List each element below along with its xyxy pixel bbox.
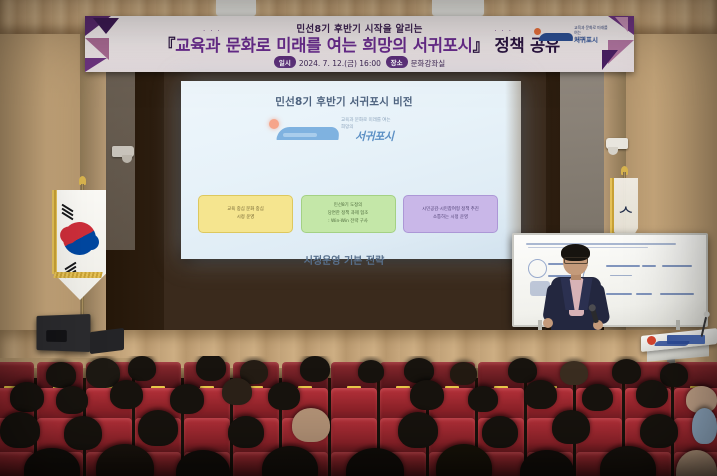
banner-bracket-close: 』 [473,36,489,55]
slide-logo-sub: 희망의 [341,125,353,130]
banner-date-pill: 일시 [274,56,296,68]
strategy-box-citizen: 시민공감·시민참여형 정책 추진 소통하는 시정 운영 [403,195,498,233]
banner-place-value: 문화강좌실 [411,59,446,68]
stage-monitor-speaker [90,328,124,354]
lectern-logo-swoosh [654,341,690,346]
audience-head [640,414,678,448]
whiteboard-writing [610,275,632,276]
audience-area [0,356,717,476]
glasses-icon [564,257,588,264]
banner-title-highlight: 교육과 문화로 미래를 여는 희망의 서귀포시 [175,36,472,55]
strategy-box-line: 민선8기 도정의 [334,202,362,210]
audience-head [560,361,588,385]
mountain-ridge-icon [283,133,317,137]
security-camera-icon [112,146,134,157]
whiteboard-writing [636,293,652,295]
strategy-box-line: 소통하는 시정 운영 [433,214,468,222]
banner-city-logo: 교육과 문화로 미래를 여는희망의 서귀포시 [532,23,610,43]
audience-head [482,416,518,448]
banner-logo-name: 서귀포시 [574,34,598,44]
ceiling-light [216,0,256,16]
audience-head [300,356,330,382]
audience-head [222,378,252,405]
sun-icon [269,119,279,129]
whiteboard-writing [642,265,656,267]
whiteboard [512,233,708,327]
mountain-icon [539,33,574,41]
audience-head [64,416,102,450]
whiteboard-writing [662,265,692,267]
audience-head [552,410,590,444]
audience-head [170,384,204,414]
banner-bracket-open: 『 [159,36,175,55]
stage-monitor-speaker [36,314,90,352]
audience-head [10,382,44,412]
projection-screen: 민선8기 후반기 서귀포시 비전 교육과 문화로 미래를 여는희망의 서귀포시 … [181,81,521,259]
audience-head [0,412,40,448]
audience-head [582,384,613,411]
ceiling-light [432,0,484,16]
banner-date-value: 2024. 7. 12.(금) 16:00 [299,59,381,68]
whiteboard-writing [606,265,640,267]
strategy-box-line: 당면한 정책 과제 협조 [328,210,369,218]
banner-place-pill: 장소 [386,56,408,68]
audience-head [268,382,300,410]
whiteboard-writing [606,293,632,295]
whiteboard-writing [660,293,694,295]
audience-head [128,356,156,381]
slide-strategy-boxes: 교육 중심 문화 중심 시정 운영 민선8기 도정의 당면한 정책 과제 협조 … [198,195,498,233]
audience-head [410,380,444,410]
audience-head [228,416,264,448]
slide-city-logo: 교육과 문화로 미래를 여는희망의 서귀포시 [269,117,409,143]
strategy-box-line: 시정 운영 [237,214,255,222]
strategy-box-line: : Win-Win 전략 구사 [328,218,368,226]
audience-head [398,412,438,448]
audience-head [524,380,557,409]
audience-head [196,356,226,381]
strategy-box-education: 교육 중심 문화 중심 시정 운영 [198,195,293,233]
slide-logo-name: 서귀포시 [355,128,393,144]
audience-head [450,362,477,385]
flag-fringe [610,178,614,234]
auditorium-photo: ··· ··· 민선8기 후반기 시작을 알리는 『교육과 문화로 미래를 여는… [0,0,717,476]
audience-head [46,362,76,388]
audience-head [56,386,88,414]
sun-icon [534,28,541,35]
audience-head [110,380,143,409]
taeguk-circle [57,216,102,261]
presenter-hand-left [543,318,553,328]
audience-head [468,386,498,412]
slide-title: 민선8기 후반기 서귀포시 비전 [181,94,507,109]
strategy-box-cooperation: 민선8기 도정의 당면한 정책 과제 협조 : Win-Win 전략 구사 [301,195,396,233]
audience-head [358,360,384,383]
event-banner: ··· ··· 민선8기 후반기 시작을 알리는 『교육과 문화로 미래를 여는… [85,16,634,72]
banner-meta: 일시2024. 7. 12.(금) 16:00 장소문화강좌실 [85,56,634,69]
flag-fringe [52,190,57,274]
strategy-box-line: 시민공감·시민참여형 정책 추진 [422,206,479,214]
audience-head [612,359,641,384]
slide-strategy-heading: 시정운영 기본 전략 [181,252,507,267]
strategy-box-line: 교육 중심 문화 중심 [227,206,264,214]
audience-head [636,380,668,408]
audience-head [660,363,688,387]
audience-head [138,410,178,446]
whiteboard-writing [526,243,676,245]
audience-head [292,408,330,442]
flag-fringe [53,272,102,278]
audience-head [508,358,537,383]
audience-head [692,408,717,444]
security-camera-icon [606,138,628,149]
slide-logo-tagline-text: 교육과 문화로 미래를 여는 [341,118,390,123]
